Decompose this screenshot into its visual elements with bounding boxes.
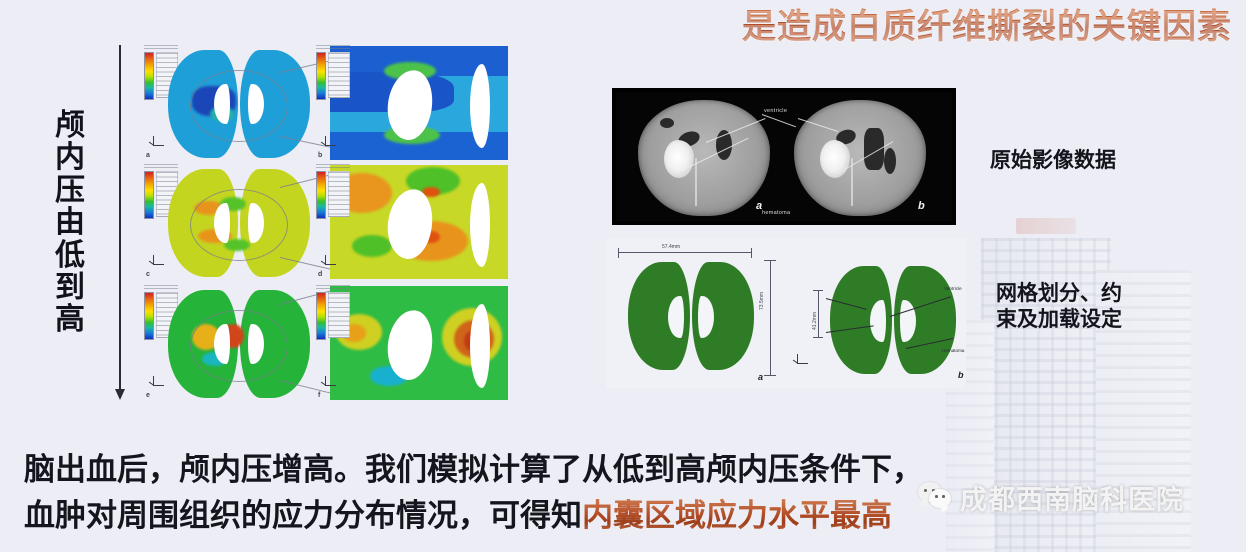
dimension-tick: [813, 337, 823, 338]
caption-line-2: 血肿对周围组织的应力分布情况，可得知内囊区域应力水平最高: [24, 490, 892, 535]
ct-annotation-hematoma: hematoma: [762, 210, 790, 216]
label-mesh-setup-line1: 网格划分、约: [996, 281, 1176, 307]
brain-detail-d: [330, 165, 508, 279]
caption-line-2-plain: 血肿对周围组织的应力分布情况，可得知: [24, 498, 582, 533]
coordinate-triad-icon: [792, 354, 810, 368]
vertical-axis-caption: 颅 内 压 由 低 到 高: [50, 110, 90, 337]
coordinate-triad-icon: [148, 136, 166, 150]
panel-label-e: e: [146, 392, 150, 399]
mesh-annotation-ventricle: Ventricle: [944, 286, 962, 291]
coordinate-triad-icon: [320, 255, 338, 269]
dimension-line-horizontal: [618, 252, 752, 253]
fea-simulation-grid: a b: [140, 44, 510, 406]
wechat-eye: [942, 495, 945, 498]
ct-ventricle: [884, 148, 896, 174]
mesh-annotation-hematoma: Hematoma: [942, 348, 964, 353]
vcap-char-1: 内: [50, 142, 90, 174]
vcap-char-2: 压: [50, 175, 90, 207]
legend-value-labels: [328, 171, 350, 217]
ventricle-cavity: [470, 64, 490, 148]
mesh-model-figure: 57.4mm 73.5mm a 41.2mm Ventricle Hematom…: [606, 238, 966, 388]
dimension-tick: [764, 375, 776, 376]
coordinate-triad-icon: [148, 255, 166, 269]
stress-color-legend: [316, 292, 350, 338]
ct-panel-b: b: [786, 96, 936, 220]
mesh-panel-label-a: a: [758, 372, 763, 382]
dimension-label-hematoma: 41.2mm: [812, 312, 818, 330]
zoom-region-outline: [190, 310, 288, 382]
dimension-line-vertical: [770, 260, 771, 376]
fea-row-low-pressure: a b: [140, 44, 510, 162]
brain-detail-f: [330, 286, 508, 400]
arrow-head: [115, 389, 125, 400]
legend-value-labels: [328, 52, 350, 98]
legend-color-bar: [316, 171, 326, 219]
dimension-line-vertical: [818, 290, 819, 338]
ct-annotation-ventricle: ventricle: [764, 108, 787, 114]
ct-skull: [794, 100, 926, 216]
ventricle-cavity: [470, 183, 490, 267]
ct-panel-label-b: b: [918, 200, 925, 212]
watermark-text: 成都西南脑科医院: [960, 478, 1184, 517]
wechat-eye: [924, 489, 927, 492]
legend-color-bar: [144, 292, 154, 340]
label-mesh-setup: 网格划分、约 束及加载设定: [996, 281, 1176, 332]
mesh-panel-label-b: b: [958, 370, 964, 380]
ct-midline: [695, 158, 697, 206]
mesh-brain-b: [830, 266, 956, 374]
vcap-char-0: 颅: [50, 110, 90, 142]
panel-label-f: f: [318, 392, 320, 399]
coordinate-triad-icon: [320, 376, 338, 390]
wechat-eye: [935, 495, 938, 498]
wechat-bubble-small: [929, 489, 951, 508]
dimension-tick: [751, 248, 752, 258]
dimension-label-height: 73.5mm: [759, 292, 765, 310]
vcap-char-6: 高: [50, 304, 90, 336]
panel-label-d: d: [318, 271, 322, 278]
vcap-char-5: 到: [50, 272, 90, 304]
legend-color-bar: [144, 52, 154, 100]
panel-label-b: b: [318, 152, 322, 159]
dimension-tick: [764, 260, 776, 261]
stress-color-legend: [316, 52, 350, 98]
brain-detail-b: [330, 46, 508, 160]
label-mesh-setup-line2: 束及加载设定: [996, 307, 1176, 333]
legend-color-bar: [144, 171, 154, 219]
ct-scan-figure: a b ventricle hematoma: [612, 88, 956, 225]
ventricle-cavity: [470, 304, 490, 388]
caption-line-2-highlight: 内囊区域应力水平最高: [582, 498, 892, 533]
legend-title-block: [316, 45, 350, 51]
dimension-label-width: 57.4mm: [662, 244, 680, 250]
coordinate-triad-icon: [148, 376, 166, 390]
vcap-char-3: 由: [50, 207, 90, 239]
legend-value-labels: [328, 292, 350, 338]
stress-color-legend: [316, 171, 350, 217]
mesh-ventricle-left: [870, 300, 886, 342]
mesh-brain-a: [628, 262, 754, 370]
brain-overview-e: [168, 288, 308, 400]
legend-title-block: [316, 164, 350, 170]
panel-label-c: c: [146, 271, 150, 278]
ct-figure-inner: a b ventricle hematoma: [616, 92, 952, 221]
label-original-imaging: 原始影像数据: [990, 148, 1180, 174]
vcap-char-4: 低: [50, 240, 90, 272]
panel-label-a: a: [146, 152, 150, 159]
legend-title-block: [316, 285, 350, 291]
down-arrow-icon: [113, 45, 127, 405]
ct-panel-a: a: [630, 96, 780, 220]
legend-color-bar: [316, 52, 326, 100]
zoom-region-outline: [190, 70, 288, 142]
wechat-watermark: 成都西南脑科医院: [918, 478, 1184, 516]
fea-row-high-pressure: e f: [140, 284, 510, 402]
caption-line-1: 脑出血后，颅内压增高。我们模拟计算了从低到高颅内压条件下，: [24, 444, 923, 489]
mesh-ventricle-left: [668, 296, 684, 338]
dimension-tick: [618, 248, 619, 258]
wechat-icon: [918, 482, 952, 512]
stress-hotspot: [352, 235, 392, 257]
coordinate-triad-icon: [320, 136, 338, 150]
ct-sulcus: [660, 118, 674, 128]
zoom-region-outline: [190, 189, 288, 261]
arrow-shaft: [119, 45, 121, 393]
building-roof-sign: [1016, 218, 1076, 234]
page-title: 是造成白质纤维撕裂的关键因素: [586, 2, 1232, 44]
brain-overview-c: [168, 167, 308, 279]
fea-row-medium-pressure: c d: [140, 163, 510, 281]
slide-canvas: 是造成白质纤维撕裂的关键因素 颅 内 压 由 低 到 高: [0, 0, 1246, 552]
legend-color-bar: [316, 292, 326, 340]
brain-overview-a: [168, 48, 308, 160]
dimension-tick: [813, 290, 823, 291]
